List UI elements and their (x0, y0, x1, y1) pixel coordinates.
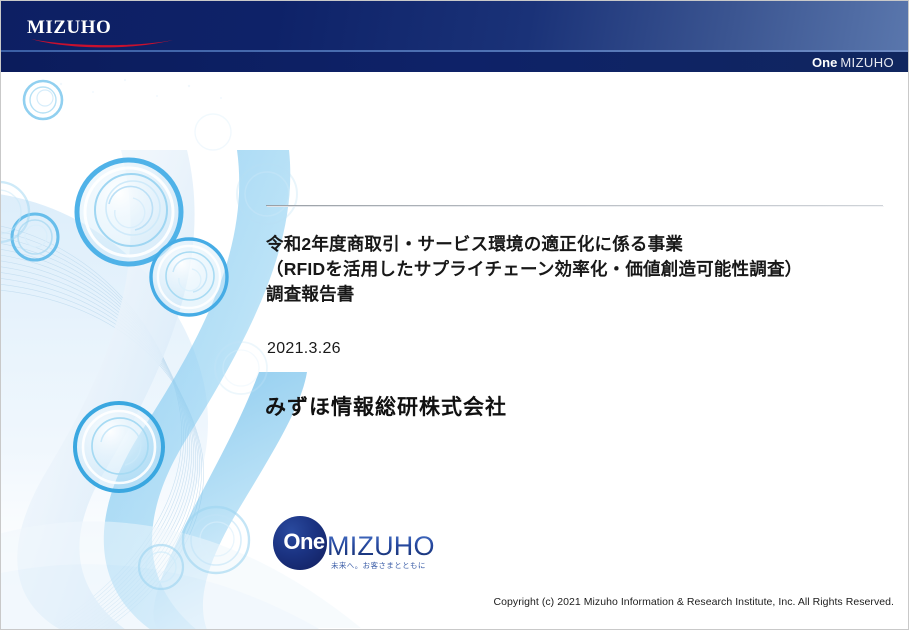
one-mizuho-logo: One MIZUHO 未来へ。お客さまとともに (273, 514, 438, 576)
one-mizuho-mizuho-text: MIZUHO (327, 532, 435, 560)
mizuho-logo: Mizuho (27, 10, 177, 48)
mizuho-wordmark-text: Mizuho (27, 10, 111, 38)
mizuho-swoosh-icon (29, 37, 175, 50)
document-title: 令和2年度商取引・サービス環境の適正化に係る事業 （RFIDを活用したサプライチ… (266, 232, 866, 307)
title-line-1: 令和2年度商取引・サービス環境の適正化に係る事業 (266, 232, 866, 257)
title-divider-shadow (267, 206, 884, 207)
background-decoration (1, 72, 909, 630)
document-date: 2021.3.26 (267, 340, 341, 358)
organization-name: みずほ情報総研株式会社 (265, 391, 507, 421)
header-mizuho-text: MIZUHO (840, 55, 894, 70)
title-line-3: 調査報告書 (266, 282, 866, 307)
header-one-mizuho-tagline: One MIZUHO (812, 54, 894, 70)
one-mizuho-tagline: 未来へ。お客さまとともに (331, 560, 426, 571)
title-slide: Mizuho One MIZUHO (0, 0, 909, 630)
one-mizuho-one-text: One (276, 531, 332, 553)
title-line-2: （RFIDを活用したサプライチェーン効率化・価値創造可能性調査） (266, 257, 866, 282)
copyright-notice: Copyright (c) 2021 Mizuho Information & … (493, 596, 894, 608)
title-divider (266, 205, 883, 206)
header-one-text: One (812, 55, 837, 70)
header-lower-band (1, 52, 909, 72)
